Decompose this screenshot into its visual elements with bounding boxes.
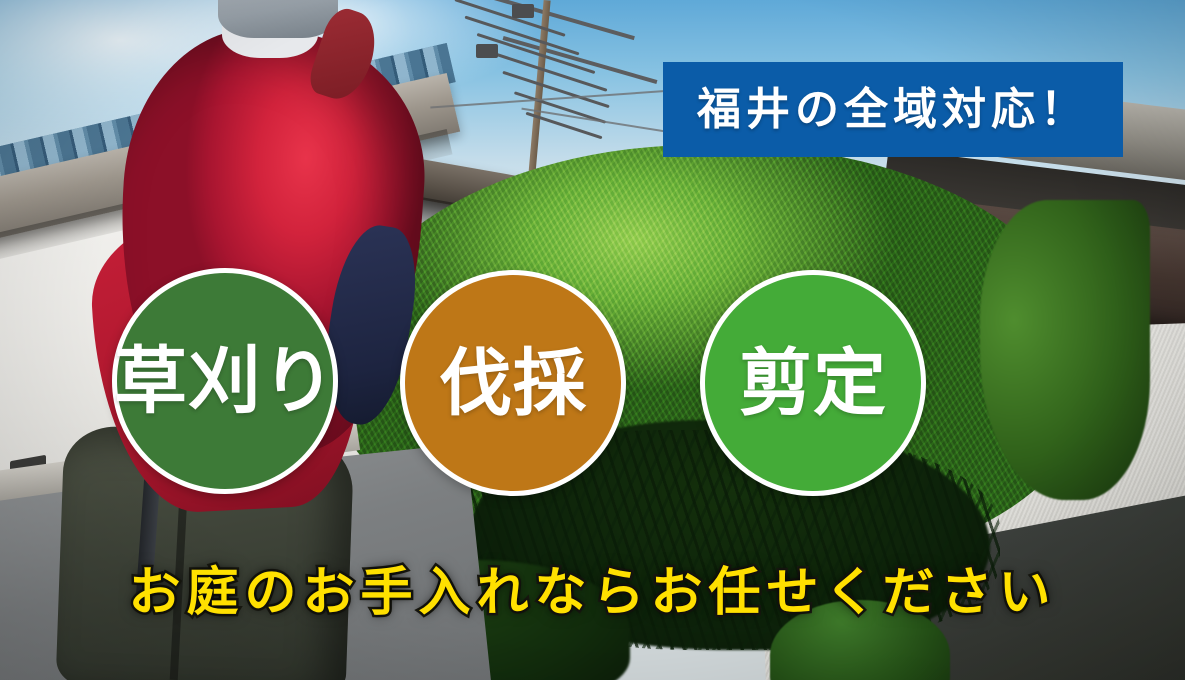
service-badge-kusakari-label: 草刈り: [114, 345, 336, 418]
coverage-area-banner-label: 福井の全域対応！: [697, 88, 1089, 132]
service-badge-sentei[interactable]: 剪定: [700, 270, 926, 496]
tagline-text: お庭のお手入れならお任せください: [0, 550, 1185, 625]
coverage-area-banner: 福井の全域対応！: [663, 62, 1123, 157]
service-badge-bassai[interactable]: 伐採: [400, 270, 626, 496]
service-badge-sentei-label: 剪定: [739, 347, 887, 420]
service-badge-bassai-label: 伐採: [439, 347, 587, 420]
service-badge-kusakari[interactable]: 草刈り: [112, 268, 338, 494]
promo-banner-image: 福井の全域対応！ 草刈り 伐採 剪定 お庭のお手入れならお任せください: [0, 0, 1185, 680]
